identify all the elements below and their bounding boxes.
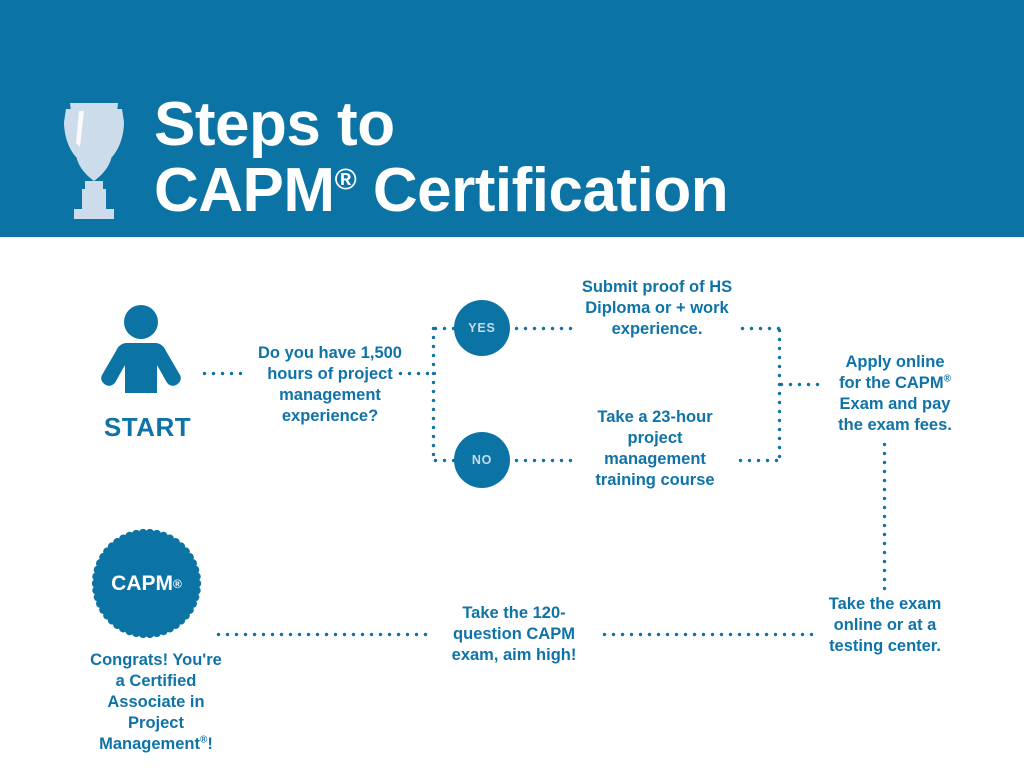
header-banner: Steps to CAPM® Certification xyxy=(0,0,1024,237)
congrats-line-2: a Certified xyxy=(116,672,197,690)
congrats-line-3: Associate in xyxy=(107,693,204,711)
congrats-line-4: Project xyxy=(128,714,184,732)
connector-start-to-question xyxy=(200,371,246,376)
page-title-capm: CAPM xyxy=(154,156,335,225)
decision-yes-circle[interactable]: YES xyxy=(454,300,510,356)
decision-yes-label: YES xyxy=(468,321,495,335)
registered-mark-icon: ® xyxy=(944,374,951,385)
connector-exam-to-certified xyxy=(214,632,429,637)
apply-online-text: Apply online for the CAPM® Exam and pay … xyxy=(820,352,970,436)
decision-no-label: NO xyxy=(472,453,492,467)
connector-merge-vertical xyxy=(777,326,782,462)
infographic-canvas: Steps to CAPM® Certification START D xyxy=(0,0,1024,768)
connector-no-text-to-merge xyxy=(736,458,782,463)
yes-branch-text: Submit proof of HS Diploma or + work exp… xyxy=(580,277,734,340)
page-title: Steps to CAPM® Certification xyxy=(154,92,974,224)
exam-text: Take the 120-question CAPM exam, aim hig… xyxy=(440,603,588,666)
registered-mark-icon: ® xyxy=(335,163,357,196)
apply-line-3: Exam and pay xyxy=(840,395,951,413)
congrats-line-5-end: ! xyxy=(207,735,213,753)
connector-yes-to-text xyxy=(512,326,574,331)
congrats-line-5: Management xyxy=(99,735,200,753)
connector-split-vertical xyxy=(431,324,436,462)
congrats-text: Congrats! You're a Certified Associate i… xyxy=(68,650,244,755)
capm-badge-icon xyxy=(90,527,203,640)
no-branch-text: Take a 23-hour project management traini… xyxy=(578,407,732,491)
connector-testing-to-exam xyxy=(600,632,815,637)
congrats-line-1: Congrats! You're xyxy=(90,651,222,669)
page-title-certification: Certification xyxy=(356,156,728,225)
connector-no-to-text xyxy=(512,458,572,463)
person-icon xyxy=(97,305,185,395)
question-text: Do you have 1,500 hours of project manag… xyxy=(243,343,417,427)
start-label: START xyxy=(60,412,235,443)
apply-line-4: the exam fees. xyxy=(838,416,952,434)
trophy-icon xyxy=(48,97,140,219)
apply-line-2: for the CAPM xyxy=(839,374,944,392)
decision-no-circle[interactable]: NO xyxy=(454,432,510,488)
page-title-line-2: CAPM® Certification xyxy=(154,158,974,224)
testing-center-text: Take the exam online or at a testing cen… xyxy=(828,594,942,657)
connector-yes-text-to-merge xyxy=(738,326,782,331)
page-title-line-1: Steps to xyxy=(154,92,974,158)
connector-apply-to-testing xyxy=(882,440,887,592)
apply-line-1: Apply online xyxy=(846,353,945,371)
connector-merge-to-apply xyxy=(777,382,821,387)
